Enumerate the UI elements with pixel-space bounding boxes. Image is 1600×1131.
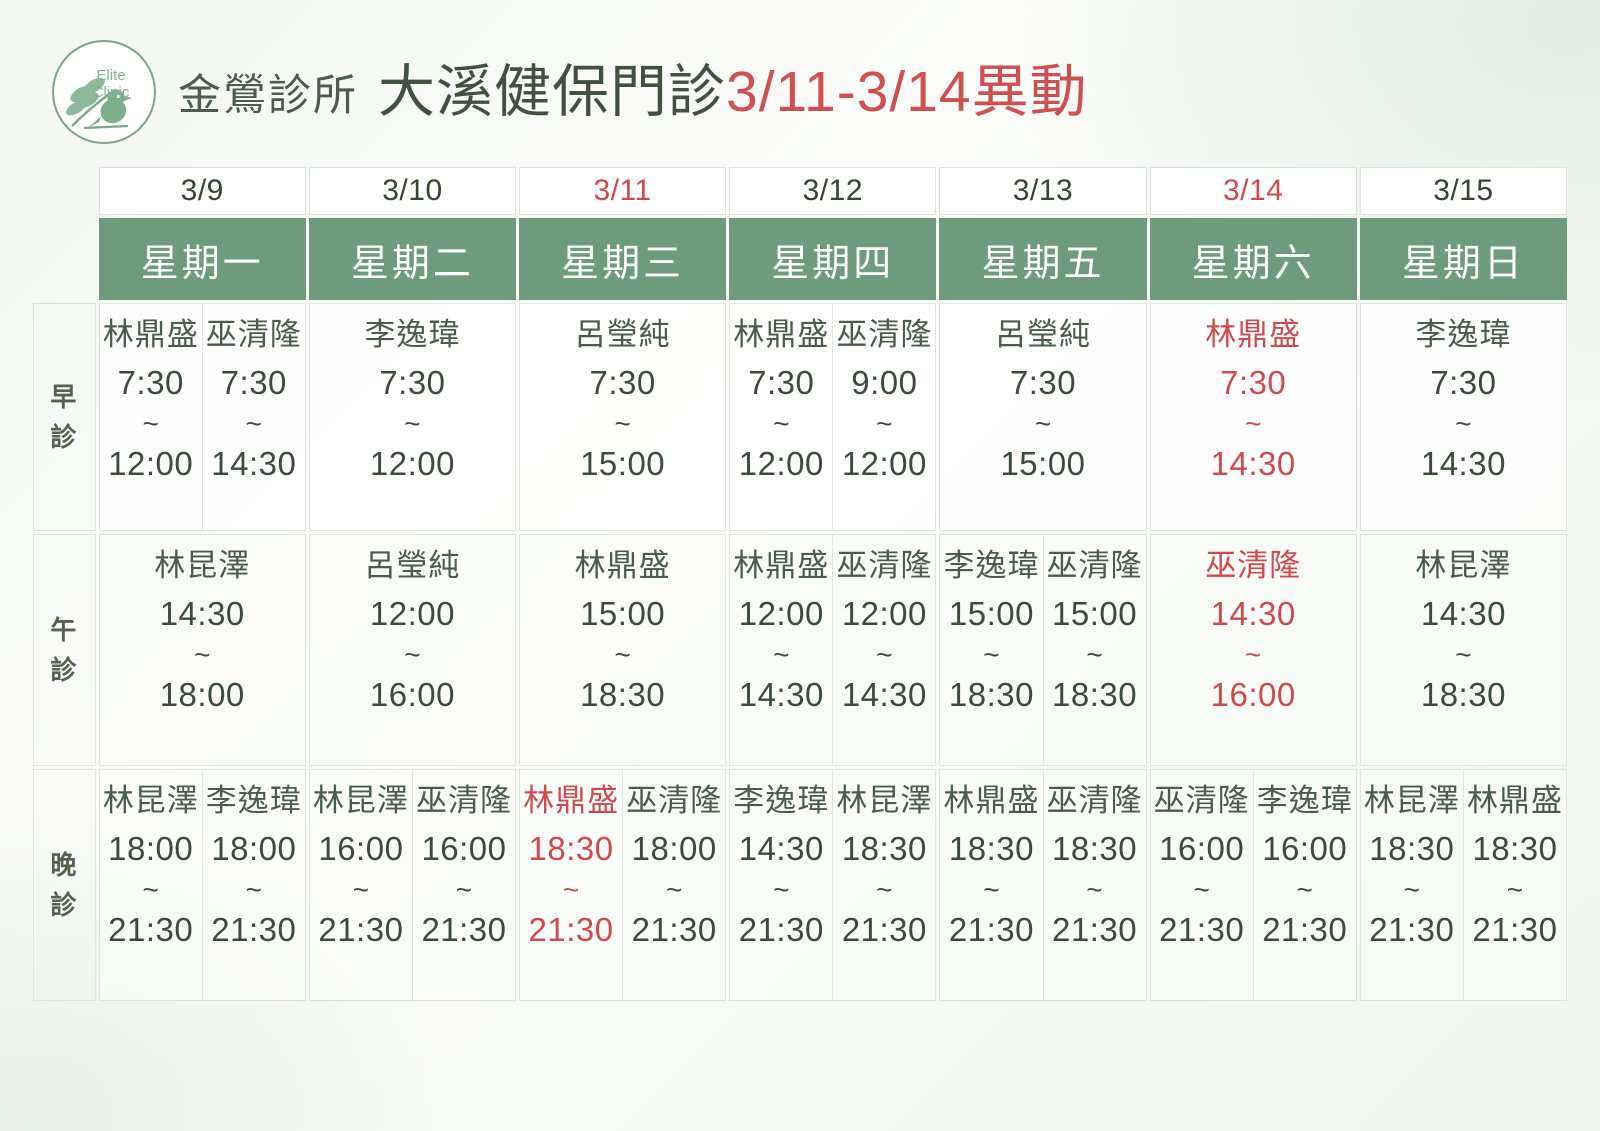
shift-start-time: 7:30	[1010, 363, 1076, 403]
shift-end-time: 18:30	[580, 675, 665, 715]
shift-start-time: 18:00	[211, 829, 296, 869]
session-label-char: 午	[40, 610, 89, 650]
doctor-slot[interactable]: 李逸瑋7:30~14:30	[1361, 304, 1566, 530]
page-header: Elite Clinic 金鶯診所 大溪健保門診3/11-3/14異動	[0, 0, 1600, 150]
schedule-row-午診: 午診林昆澤14:30~18:00呂瑩純12:00~16:00林鼎盛15:00~1…	[33, 534, 1567, 766]
doctor-name: 巫清隆	[836, 316, 932, 355]
clinic-logo: Elite Clinic	[52, 40, 156, 144]
time-range-separator: ~	[1455, 410, 1471, 438]
schedule-cell[interactable]: 林鼎盛12:00~14:30巫清隆12:00~14:30	[729, 534, 936, 766]
schedule-cell[interactable]: 林鼎盛7:30~12:00巫清隆7:30~14:30	[99, 303, 306, 531]
shift-end-time: 14:30	[1211, 444, 1296, 484]
doctor-name: 巫清隆	[1047, 782, 1143, 821]
slot-group: 林鼎盛12:00~14:30巫清隆12:00~14:30	[730, 535, 935, 765]
shift-start-time: 7:30	[590, 363, 656, 403]
time-range-separator: ~	[876, 876, 892, 904]
slot-group: 李逸瑋15:00~18:30巫清隆15:00~18:30	[940, 535, 1145, 765]
time-range-separator: ~	[353, 876, 369, 904]
schedule-row-晚診: 晚診林昆澤18:00~21:30李逸瑋18:00~21:30林昆澤16:00~2…	[33, 769, 1567, 1001]
schedule-table: 3/9 3/10 3/11 3/12 3/13 3/14 3/15 星期一 星期…	[30, 164, 1570, 1004]
date-header-4: 3/13	[939, 167, 1146, 215]
doctor-name: 李逸瑋	[206, 782, 302, 821]
shift-end-time: 12:00	[739, 444, 824, 484]
schedule-cell[interactable]: 林鼎盛7:30~12:00巫清隆9:00~12:00	[729, 303, 936, 531]
shift-start-time: 14:30	[1211, 594, 1296, 634]
slot-group: 林鼎盛18:30~21:30巫清隆18:30~21:30	[940, 770, 1145, 1000]
shift-end-time: 21:30	[739, 910, 824, 950]
shift-end-time: 21:30	[1052, 910, 1137, 950]
shift-end-time: 16:00	[370, 675, 455, 715]
doctor-slot[interactable]: 林昆澤18:30~21:30	[832, 770, 935, 1000]
doctor-slot[interactable]: 巫清隆12:00~14:30	[832, 535, 935, 765]
shift-start-time: 16:00	[1159, 829, 1244, 869]
time-range-separator: ~	[614, 410, 630, 438]
session-label-2: 晚診	[33, 769, 96, 1001]
shift-start-time: 18:00	[108, 829, 193, 869]
time-range-separator: ~	[983, 876, 999, 904]
doctor-name: 巫清隆	[1047, 547, 1143, 586]
shift-end-time: 15:00	[580, 444, 665, 484]
shift-end-time: 12:00	[842, 444, 927, 484]
time-range-separator: ~	[1245, 410, 1261, 438]
slot-group: 林鼎盛7:30~14:30	[1151, 304, 1356, 530]
shift-start-time: 18:30	[529, 829, 614, 869]
doctor-slot[interactable]: 呂瑩純7:30~15:00	[940, 304, 1145, 530]
logo-text-elite: Elite	[96, 67, 125, 84]
time-range-separator: ~	[1193, 876, 1209, 904]
session-label-1: 午診	[33, 534, 96, 766]
doctor-name: 巫清隆	[836, 547, 932, 586]
shift-start-time: 14:30	[739, 829, 824, 869]
slot-group: 李逸瑋7:30~12:00	[310, 304, 515, 530]
shift-end-time: 21:30	[632, 910, 717, 950]
shift-start-time: 18:30	[1472, 829, 1557, 869]
shift-end-time: 21:30	[318, 910, 403, 950]
doctor-slot[interactable]: 巫清隆16:00~21:30	[1151, 770, 1253, 1000]
doctor-slot[interactable]: 林鼎盛12:00~14:30	[730, 535, 832, 765]
time-range-separator: ~	[1507, 876, 1523, 904]
doctor-slot[interactable]: 巫清隆16:00~21:30	[412, 770, 515, 1000]
time-range-separator: ~	[404, 410, 420, 438]
page-title-accent: 3/11-3/14異動	[726, 60, 1088, 124]
doctor-slot[interactable]: 巫清隆14:30~16:00	[1151, 535, 1356, 765]
schedule-row-早診: 早診林鼎盛7:30~12:00巫清隆7:30~14:30李逸瑋7:30~12:0…	[33, 303, 1567, 531]
slot-group: 呂瑩純12:00~16:00	[310, 535, 515, 765]
shift-start-time: 15:00	[949, 594, 1034, 634]
weekday-header-row: 星期一 星期二 星期三 星期四 星期五 星期六 星期日	[33, 218, 1567, 300]
doctor-name: 巫清隆	[626, 782, 722, 821]
shift-start-time: 7:30	[221, 363, 287, 403]
doctor-slot[interactable]: 呂瑩純7:30~15:00	[520, 304, 725, 530]
doctor-slot[interactable]: 林鼎盛18:30~21:30	[520, 770, 622, 1000]
date-header-row: 3/9 3/10 3/11 3/12 3/13 3/14 3/15	[33, 167, 1567, 215]
time-range-separator: ~	[1086, 876, 1102, 904]
shift-start-time: 14:30	[1421, 594, 1506, 634]
doctor-name: 林昆澤	[103, 782, 199, 821]
time-range-separator: ~	[773, 641, 789, 669]
doctor-name: 林昆澤	[313, 782, 409, 821]
shift-end-time: 21:30	[421, 910, 506, 950]
shift-start-time: 7:30	[118, 363, 184, 403]
doctor-name: 李逸瑋	[1257, 782, 1353, 821]
date-header-1: 3/10	[309, 167, 516, 215]
slot-group: 呂瑩純7:30~15:00	[520, 304, 725, 530]
time-range-separator: ~	[404, 641, 420, 669]
doctor-slot[interactable]: 林昆澤16:00~21:30	[310, 770, 412, 1000]
slot-group: 林鼎盛15:00~18:30	[520, 535, 725, 765]
schedule-cell[interactable]: 林昆澤18:30~21:30林鼎盛18:30~21:30	[1360, 769, 1567, 1001]
time-range-separator: ~	[246, 876, 262, 904]
shift-start-time: 15:00	[580, 594, 665, 634]
slot-group: 林昆澤14:30~18:30	[1361, 535, 1566, 765]
slot-group: 李逸瑋7:30~14:30	[1361, 304, 1566, 530]
shift-start-time: 18:30	[842, 829, 927, 869]
shift-end-time: 16:00	[1211, 675, 1296, 715]
doctor-name: 呂瑩純	[364, 547, 460, 586]
time-range-separator: ~	[773, 410, 789, 438]
schedule-header: 3/9 3/10 3/11 3/12 3/13 3/14 3/15 星期一 星期…	[33, 167, 1567, 300]
doctor-name: 呂瑩純	[995, 316, 1091, 355]
weekday-header-1: 星期二	[309, 218, 516, 300]
doctor-slot[interactable]: 呂瑩純12:00~16:00	[310, 535, 515, 765]
schedule-cell[interactable]: 林昆澤16:00~21:30巫清隆16:00~21:30	[309, 769, 516, 1001]
weekday-header-0: 星期一	[99, 218, 306, 300]
session-label-char: 晚	[40, 845, 89, 885]
doctor-slot[interactable]: 林昆澤14:30~18:00	[100, 535, 305, 765]
doctor-slot[interactable]: 巫清隆9:00~12:00	[832, 304, 935, 530]
shift-end-time: 21:30	[842, 910, 927, 950]
session-label-char: 診	[40, 417, 89, 457]
shift-start-time: 7:30	[379, 363, 445, 403]
doctor-name: 林昆澤	[1415, 547, 1511, 586]
shift-start-time: 16:00	[421, 829, 506, 869]
schedule-cell[interactable]: 李逸瑋7:30~12:00	[309, 303, 516, 531]
slot-group: 林鼎盛7:30~12:00巫清隆7:30~14:30	[100, 304, 305, 530]
time-range-separator: ~	[983, 641, 999, 669]
shift-end-time: 21:30	[1472, 910, 1557, 950]
slot-group: 林鼎盛18:30~21:30巫清隆18:00~21:30	[520, 770, 725, 1000]
date-header-2: 3/11	[519, 167, 726, 215]
doctor-name: 林鼎盛	[523, 782, 619, 821]
doctor-slot[interactable]: 林鼎盛7:30~12:00	[730, 304, 832, 530]
schedule-cell[interactable]: 林昆澤14:30~18:30	[1360, 534, 1567, 766]
doctor-slot[interactable]: 林鼎盛18:30~21:30	[1463, 770, 1566, 1000]
doctor-name: 林昆澤	[836, 782, 932, 821]
shift-end-time: 14:30	[211, 444, 296, 484]
shift-end-time: 21:30	[949, 910, 1034, 950]
time-range-separator: ~	[614, 641, 630, 669]
schedule-cell[interactable]: 林鼎盛18:30~21:30巫清隆18:30~21:30	[939, 769, 1146, 1001]
doctor-slot[interactable]: 巫清隆15:00~18:30	[1043, 535, 1146, 765]
shift-end-time: 15:00	[1000, 444, 1085, 484]
time-range-separator: ~	[876, 410, 892, 438]
doctor-name: 巫清隆	[416, 782, 512, 821]
doctor-slot[interactable]: 李逸瑋16:00~21:30	[1253, 770, 1356, 1000]
doctor-name: 林鼎盛	[733, 316, 829, 355]
shift-start-time: 16:00	[318, 829, 403, 869]
doctor-name: 李逸瑋	[1415, 316, 1511, 355]
doctor-name: 巫清隆	[1154, 782, 1250, 821]
schedule-cell[interactable]: 林鼎盛7:30~14:30	[1150, 303, 1357, 531]
weekday-header-3: 星期四	[729, 218, 936, 300]
doctor-slot[interactable]: 巫清隆18:30~21:30	[1043, 770, 1146, 1000]
slot-group: 林昆澤14:30~18:00	[100, 535, 305, 765]
doctor-slot[interactable]: 李逸瑋14:30~21:30	[730, 770, 832, 1000]
schedule-cell[interactable]: 呂瑩純12:00~16:00	[309, 534, 516, 766]
doctor-slot[interactable]: 林鼎盛15:00~18:30	[520, 535, 725, 765]
shift-end-time: 18:00	[160, 675, 245, 715]
doctor-slot[interactable]: 李逸瑋18:00~21:30	[202, 770, 305, 1000]
date-header-6: 3/15	[1360, 167, 1567, 215]
doctor-slot[interactable]: 巫清隆18:00~21:30	[622, 770, 725, 1000]
shift-end-time: 18:30	[1052, 675, 1137, 715]
schedule-cell[interactable]: 李逸瑋7:30~14:30	[1360, 303, 1567, 531]
slot-group: 巫清隆16:00~21:30李逸瑋16:00~21:30	[1151, 770, 1356, 1000]
slot-group: 林昆澤16:00~21:30巫清隆16:00~21:30	[310, 770, 515, 1000]
shift-start-time: 9:00	[851, 363, 917, 403]
shift-end-time: 18:30	[949, 675, 1034, 715]
date-header-3: 3/12	[729, 167, 936, 215]
weekday-header-5: 星期六	[1150, 218, 1357, 300]
time-range-separator: ~	[666, 876, 682, 904]
shift-start-time: 7:30	[1430, 363, 1496, 403]
shift-end-time: 14:30	[739, 675, 824, 715]
slot-group: 巫清隆14:30~16:00	[1151, 535, 1356, 765]
time-range-separator: ~	[456, 876, 472, 904]
logo-text-clinic: Clinic	[93, 84, 130, 101]
shift-end-time: 18:30	[1421, 675, 1506, 715]
doctor-slot[interactable]: 李逸瑋15:00~18:30	[940, 535, 1042, 765]
shift-end-time: 14:30	[1421, 444, 1506, 484]
time-range-separator: ~	[194, 641, 210, 669]
shift-start-time: 18:00	[632, 829, 717, 869]
doctor-slot[interactable]: 巫清隆7:30~14:30	[202, 304, 305, 530]
doctor-name: 林昆澤	[154, 547, 250, 586]
shift-end-time: 21:30	[211, 910, 296, 950]
shift-end-time: 12:00	[108, 444, 193, 484]
weekday-header-6: 星期日	[1360, 218, 1567, 300]
session-label-char: 診	[40, 650, 89, 690]
schedule-cell[interactable]: 巫清隆16:00~21:30李逸瑋16:00~21:30	[1150, 769, 1357, 1001]
slot-group: 林鼎盛7:30~12:00巫清隆9:00~12:00	[730, 304, 935, 530]
doctor-name: 林昆澤	[1364, 782, 1460, 821]
schedule-cell[interactable]: 呂瑩純7:30~15:00	[939, 303, 1146, 531]
weekday-header-4: 星期五	[939, 218, 1146, 300]
shift-start-time: 18:30	[1369, 829, 1454, 869]
time-range-separator: ~	[1245, 641, 1261, 669]
date-header-5: 3/14	[1150, 167, 1357, 215]
shift-start-time: 7:30	[1220, 363, 1286, 403]
shift-end-time: 21:30	[1369, 910, 1454, 950]
doctor-name: 林鼎盛	[733, 547, 829, 586]
schedule-cell[interactable]: 李逸瑋14:30~21:30林昆澤18:30~21:30	[729, 769, 936, 1001]
clinic-name: 金鶯診所	[178, 61, 358, 123]
time-range-separator: ~	[246, 410, 262, 438]
schedule-cell[interactable]: 林昆澤18:00~21:30李逸瑋18:00~21:30	[99, 769, 306, 1001]
doctor-slot[interactable]: 林鼎盛7:30~14:30	[1151, 304, 1356, 530]
slot-group: 呂瑩純7:30~15:00	[940, 304, 1145, 530]
shift-end-time: 21:30	[1262, 910, 1347, 950]
doctor-slot[interactable]: 林昆澤18:00~21:30	[100, 770, 202, 1000]
doctor-name: 巫清隆	[1205, 547, 1301, 586]
time-range-separator: ~	[1297, 876, 1313, 904]
weekday-header-2: 星期三	[519, 218, 726, 300]
time-range-separator: ~	[876, 641, 892, 669]
shift-start-time: 7:30	[748, 363, 814, 403]
schedule-cell[interactable]: 林鼎盛18:30~21:30巫清隆18:00~21:30	[519, 769, 726, 1001]
schedule-cell[interactable]: 林昆澤14:30~18:00	[99, 534, 306, 766]
doctor-slot[interactable]: 林鼎盛18:30~21:30	[940, 770, 1042, 1000]
time-range-separator: ~	[773, 876, 789, 904]
doctor-slot[interactable]: 林昆澤14:30~18:30	[1361, 535, 1566, 765]
shift-end-time: 14:30	[842, 675, 927, 715]
doctor-name: 呂瑩純	[575, 316, 671, 355]
shift-start-time: 15:00	[1052, 594, 1137, 634]
shift-start-time: 12:00	[370, 594, 455, 634]
schedule-cell[interactable]: 李逸瑋15:00~18:30巫清隆15:00~18:30	[939, 534, 1146, 766]
shift-start-time: 12:00	[842, 594, 927, 634]
schedule-cell[interactable]: 林鼎盛15:00~18:30	[519, 534, 726, 766]
shift-start-time: 16:00	[1262, 829, 1347, 869]
slot-group: 李逸瑋14:30~21:30林昆澤18:30~21:30	[730, 770, 935, 1000]
doctor-name: 巫清隆	[206, 316, 302, 355]
shift-start-time: 14:30	[160, 594, 245, 634]
corner-spacer-2	[33, 218, 96, 300]
doctor-slot[interactable]: 李逸瑋7:30~12:00	[310, 304, 515, 530]
session-label-0: 早診	[33, 303, 96, 531]
time-range-separator: ~	[143, 410, 159, 438]
doctor-name: 李逸瑋	[364, 316, 460, 355]
corner-spacer	[33, 167, 96, 215]
schedule-body: 早診林鼎盛7:30~12:00巫清隆7:30~14:30李逸瑋7:30~12:0…	[33, 303, 1567, 1001]
doctor-name: 李逸瑋	[733, 782, 829, 821]
shift-end-time: 21:30	[529, 910, 614, 950]
time-range-separator: ~	[1455, 641, 1471, 669]
clinic-schedule-page: Elite Clinic 金鶯診所 大溪健保門診3/11-3/14異動 3/9 …	[0, 0, 1600, 1131]
time-range-separator: ~	[1404, 876, 1420, 904]
session-label-char: 早	[40, 377, 89, 417]
doctor-slot[interactable]: 林鼎盛7:30~12:00	[100, 304, 202, 530]
time-range-separator: ~	[1086, 641, 1102, 669]
date-header-0: 3/9	[99, 167, 306, 215]
slot-group: 林昆澤18:30~21:30林鼎盛18:30~21:30	[1361, 770, 1566, 1000]
schedule-cell[interactable]: 呂瑩純7:30~15:00	[519, 303, 726, 531]
slot-group: 林昆澤18:00~21:30李逸瑋18:00~21:30	[100, 770, 305, 1000]
doctor-slot[interactable]: 林昆澤18:30~21:30	[1361, 770, 1463, 1000]
doctor-name: 李逸瑋	[943, 547, 1039, 586]
doctor-name: 林鼎盛	[1205, 316, 1301, 355]
shift-end-time: 12:00	[370, 444, 455, 484]
page-title: 大溪健保門診3/11-3/14異動	[378, 64, 1088, 121]
doctor-name: 林鼎盛	[943, 782, 1039, 821]
schedule-cell[interactable]: 巫清隆14:30~16:00	[1150, 534, 1357, 766]
doctor-name: 林鼎盛	[575, 547, 671, 586]
time-range-separator: ~	[1035, 410, 1051, 438]
page-title-main: 大溪健保門診	[378, 60, 726, 124]
shift-end-time: 21:30	[108, 910, 193, 950]
doctor-name: 林鼎盛	[1467, 782, 1563, 821]
time-range-separator: ~	[143, 876, 159, 904]
shift-start-time: 18:30	[1052, 829, 1137, 869]
shift-end-time: 21:30	[1159, 910, 1244, 950]
shift-start-time: 12:00	[739, 594, 824, 634]
time-range-separator: ~	[563, 876, 579, 904]
doctor-name: 林鼎盛	[103, 316, 199, 355]
session-label-char: 診	[40, 885, 89, 925]
shift-start-time: 18:30	[949, 829, 1034, 869]
